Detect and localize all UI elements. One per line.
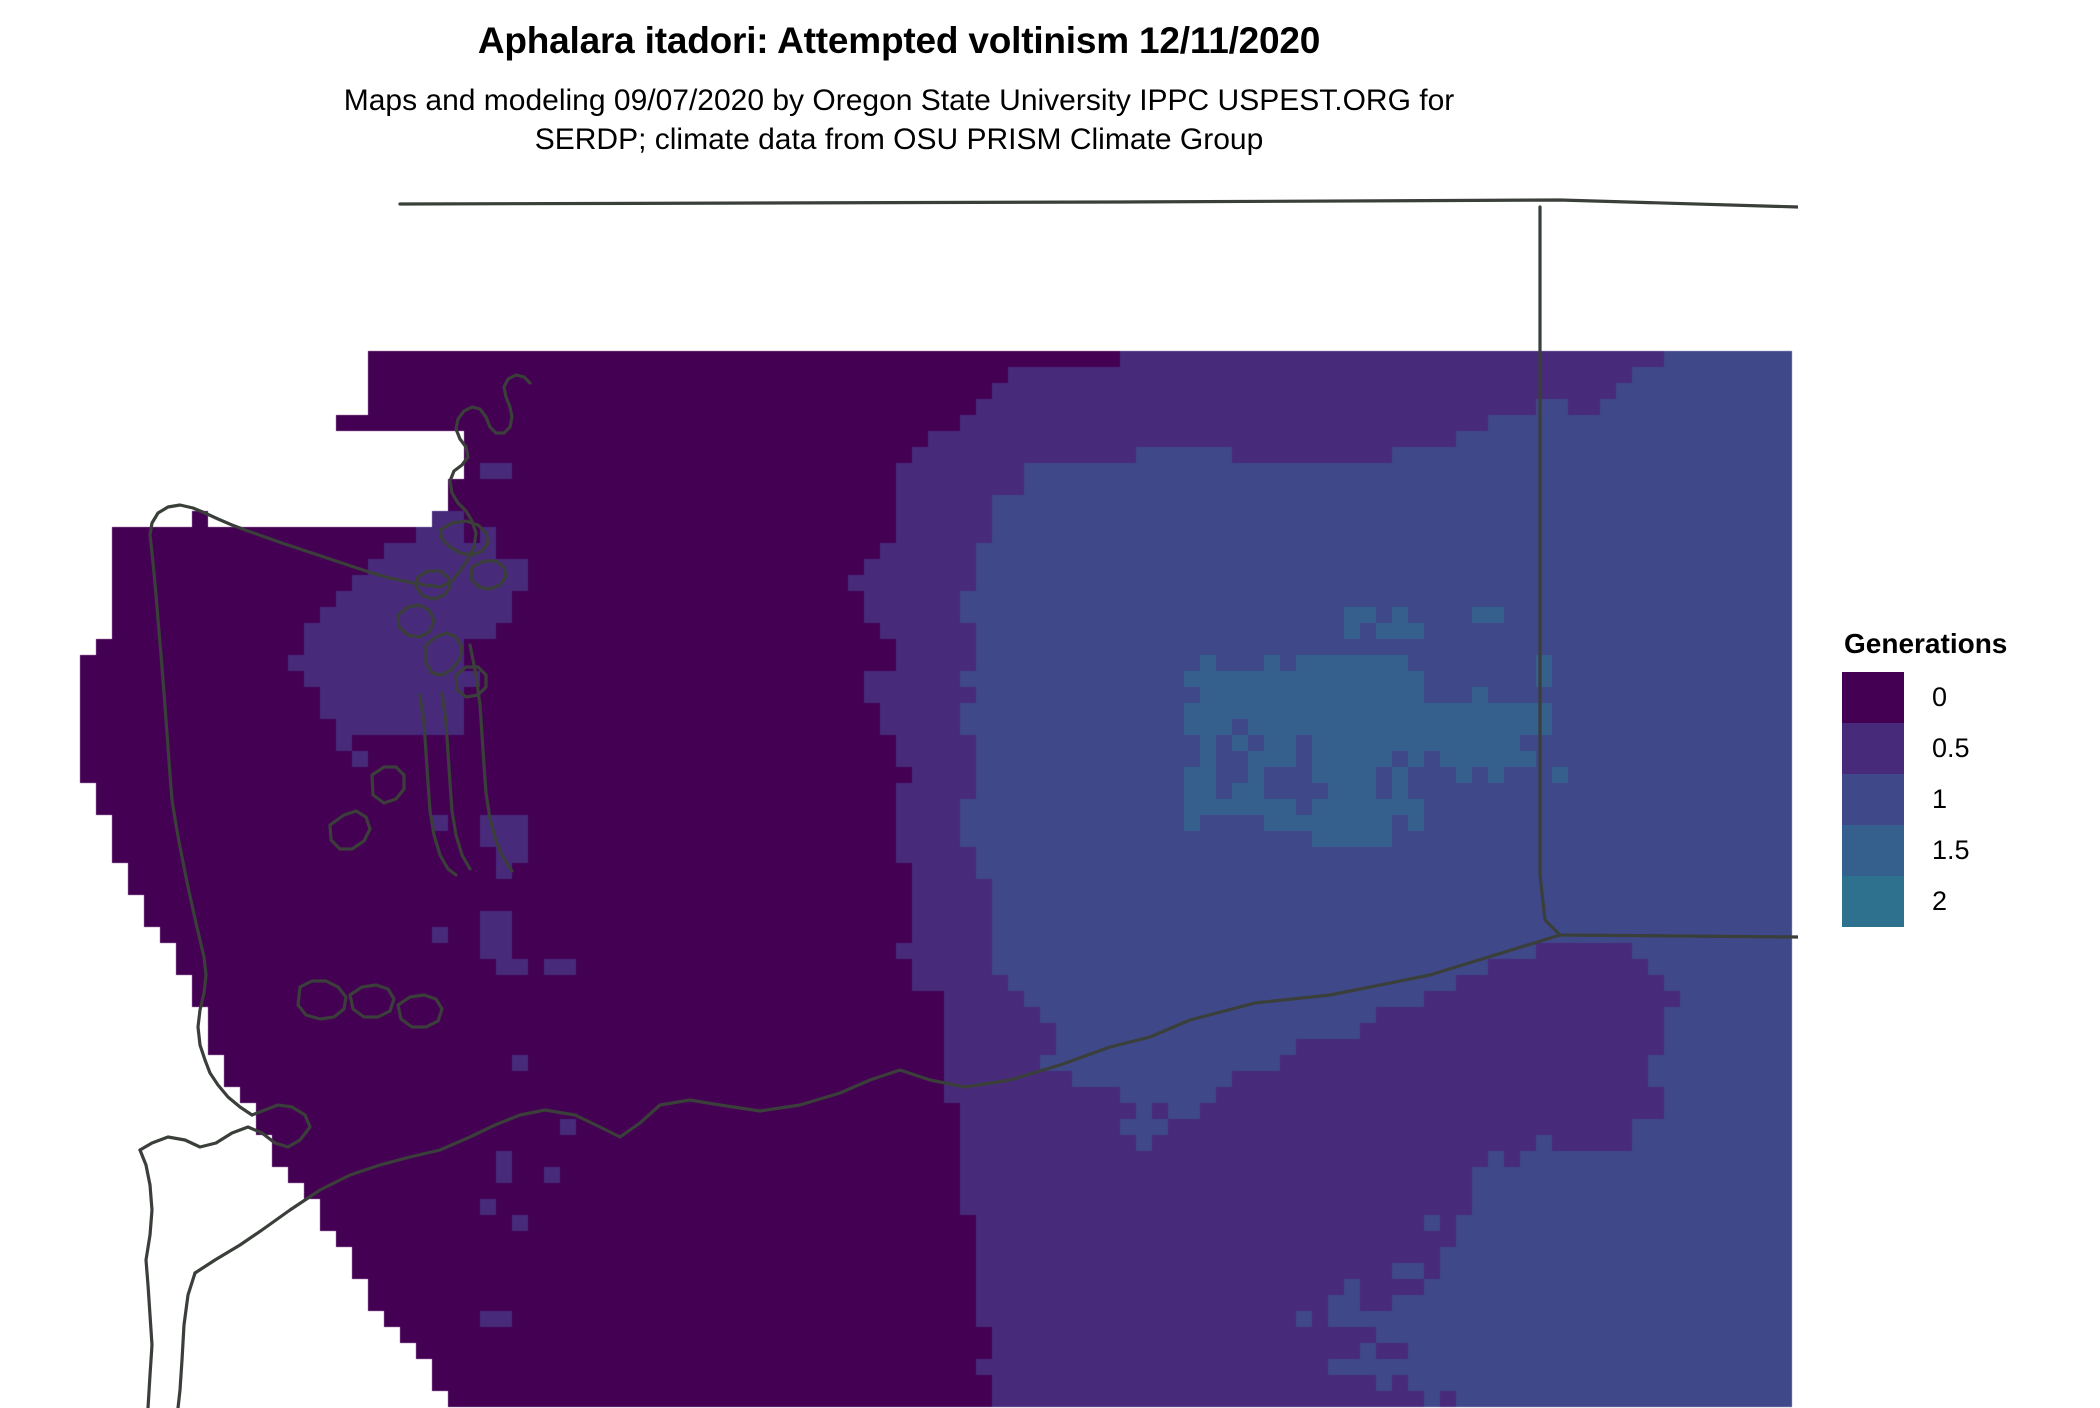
title-block: Aphalara itadori: Attempted voltinism 12… [0, 0, 1798, 160]
legend-swatch [1842, 672, 1904, 723]
legend-label: 0 [1932, 682, 1947, 713]
legend-swatch [1842, 825, 1904, 876]
subtitle-line-1: Maps and modeling 09/07/2020 by Oregon S… [0, 81, 1798, 121]
legend-label: 0.5 [1932, 733, 1970, 764]
legend-label: 1.5 [1932, 835, 1970, 866]
map-panel[interactable] [0, 175, 1798, 1408]
page-title: Aphalara itadori: Attempted voltinism 12… [0, 22, 1798, 61]
legend-row: 1.5 [1842, 825, 2082, 876]
legend-swatch [1842, 876, 1904, 927]
legend-row: 0 [1842, 672, 2082, 723]
map-page: Aphalara itadori: Attempted voltinism 12… [0, 0, 2100, 1408]
legend-swatch [1842, 774, 1904, 825]
legend-label: 1 [1932, 784, 1947, 815]
legend-row: 1 [1842, 774, 2082, 825]
legend: Generations 00.511.52 [1842, 628, 2082, 927]
legend-entries: 00.511.52 [1842, 672, 2082, 927]
legend-row: 2 [1842, 876, 2082, 927]
legend-title: Generations [1844, 628, 2082, 660]
subtitle-line-2: SERDP; climate data from OSU PRISM Clima… [0, 120, 1798, 160]
legend-row: 0.5 [1842, 723, 2082, 774]
legend-label: 2 [1932, 886, 1947, 917]
voltinism-raster [0, 175, 1798, 1408]
legend-swatch [1842, 723, 1904, 774]
page-subtitle: Maps and modeling 09/07/2020 by Oregon S… [0, 61, 1798, 160]
